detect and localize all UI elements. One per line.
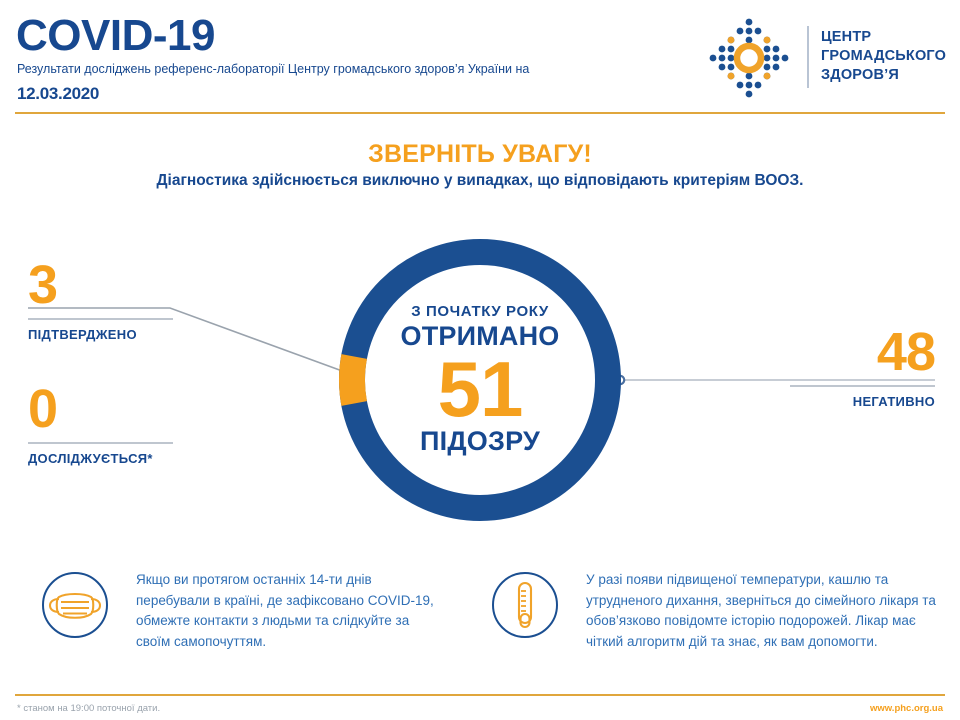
phc-logo-mark (703, 16, 795, 100)
stat-investigated-rule (28, 442, 173, 444)
tip-symptoms-text: У разі появи підвищеної температури, каш… (586, 570, 950, 652)
logo: ЦЕНТР ГРОМАДСЬКОГО ЗДОРОВ’Я (703, 16, 943, 100)
thermometer-icon (490, 570, 560, 640)
tip-travel-text: Якщо ви протягом останніх 14-ти днів пер… (136, 570, 436, 652)
donut-svg (330, 230, 630, 530)
donut-segment-confirmed (352, 356, 354, 403)
footer-divider (15, 694, 945, 696)
stat-confirmed-rule (28, 318, 173, 320)
stat-negative: 48 НЕГАТИВНО (790, 325, 935, 409)
logo-divider (807, 26, 809, 88)
stat-negative-rule (790, 385, 935, 387)
tip-symptoms: У разі появи підвищеної температури, каш… (490, 570, 950, 652)
donut-chart: З ПОЧАТКУ РОКУ ОТРИМАНО 51 ПІДОЗРУ (330, 230, 630, 530)
logo-line-3: ЗДОРОВ’Я (821, 66, 946, 85)
footer-url[interactable]: www.phc.org.ua (870, 703, 943, 714)
stat-negative-value: 48 (790, 325, 935, 379)
footer-note: * станом на 19:00 поточної дати. (17, 703, 160, 714)
logo-line-1: ЦЕНТР (821, 28, 946, 47)
face-mask-icon (40, 570, 110, 640)
stat-confirmed-value: 3 (28, 258, 173, 312)
page-title: COVID-19 (16, 14, 215, 58)
stat-investigated-label: ДОСЛІДЖУЄТЬСЯ* (28, 451, 173, 466)
header-subtitle: Результати досліджень референс-лаборатор… (17, 62, 677, 78)
header-divider (15, 112, 945, 114)
infographic-page: COVID-19 Результати досліджень референс-… (0, 0, 960, 720)
stat-negative-label: НЕГАТИВНО (790, 394, 935, 409)
stat-investigated: 0 ДОСЛІДЖУЄТЬСЯ* (28, 382, 173, 466)
report-date: 12.03.2020 (17, 84, 99, 104)
logo-text: ЦЕНТР ГРОМАДСЬКОГО ЗДОРОВ’Я (821, 28, 946, 85)
stat-confirmed-label: ПІДТВЕРДЖЕНО (28, 327, 173, 342)
stat-investigated-value: 0 (28, 382, 173, 436)
stat-confirmed: 3 ПІДТВЕРДЖЕНО (28, 258, 173, 342)
tip-travel: Якщо ви протягом останніх 14-ти днів пер… (40, 570, 450, 652)
attention-headline: ЗВЕРНІТЬ УВАГУ! (0, 140, 960, 169)
attention-subline: Діагностика здійснюється виключно у випа… (0, 172, 960, 190)
logo-line-2: ГРОМАДСЬКОГО (821, 47, 946, 66)
